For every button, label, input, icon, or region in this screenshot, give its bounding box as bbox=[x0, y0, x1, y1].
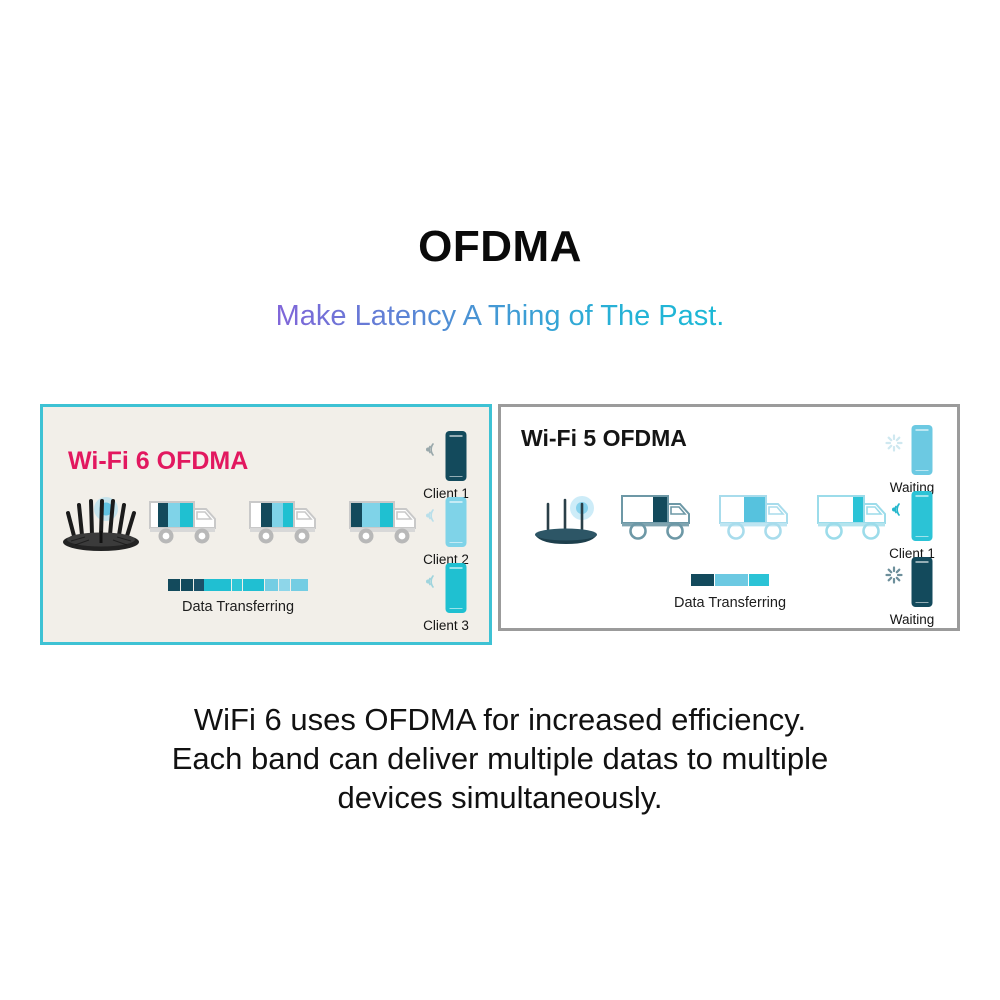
phone-icon bbox=[912, 425, 933, 475]
loading-spinner-icon bbox=[884, 565, 904, 585]
phone-icon bbox=[446, 431, 467, 481]
bar-segment bbox=[714, 574, 748, 586]
phone-icon bbox=[446, 563, 467, 613]
client-wifi5-2: Client 1 bbox=[869, 491, 955, 561]
panel-wifi5-ofdma: Wi-Fi 5 OFDMA bbox=[498, 404, 960, 631]
caption-line-1: WiFi 6 uses OFDMA for increased efficien… bbox=[60, 700, 940, 739]
bar-segment bbox=[204, 579, 231, 591]
bar-segment bbox=[691, 574, 714, 586]
wifi-signal-icon bbox=[884, 499, 904, 519]
wifi-signal-icon bbox=[418, 505, 438, 525]
truck-wifi6-1 bbox=[149, 499, 227, 554]
caption-line-2: Each band can deliver multiple datas to … bbox=[60, 739, 940, 778]
bar-segment bbox=[290, 579, 308, 591]
panel-wifi5-title: Wi-Fi 5 OFDMA bbox=[521, 425, 687, 452]
bar-segment bbox=[231, 579, 242, 591]
wifi-signal-icon bbox=[418, 439, 438, 459]
wifi6-router-icon bbox=[59, 495, 143, 562]
phone-icon bbox=[912, 491, 933, 541]
bar-segment bbox=[180, 579, 193, 591]
client-wifi6-1: Client 1 bbox=[403, 431, 489, 501]
bar-segment bbox=[264, 579, 278, 591]
phone-icon bbox=[446, 497, 467, 547]
truck-wifi5-1 bbox=[621, 493, 701, 550]
loading-spinner-icon bbox=[884, 433, 904, 453]
wifi5-router-icon bbox=[527, 491, 611, 554]
data-transfer-bar-wifi6 bbox=[168, 579, 308, 591]
wifi-signal-icon bbox=[418, 571, 438, 591]
truck-wifi6-2 bbox=[249, 499, 327, 554]
panel-wifi6-ofdma: Wi-Fi 6 OFDMA bbox=[40, 404, 492, 645]
panel-wifi6-title: Wi-Fi 6 OFDMA bbox=[68, 447, 248, 476]
client-label: Client 3 bbox=[403, 618, 489, 633]
data-transfer-label-wifi6: Data Transferring bbox=[153, 599, 323, 615]
page-title: OFDMA bbox=[0, 222, 1000, 272]
client-wifi6-2: Client 2 bbox=[403, 497, 489, 567]
bar-segment bbox=[242, 579, 264, 591]
page-subtitle: Make Latency A Thing of The Past. bbox=[0, 300, 1000, 333]
truck-wifi5-2 bbox=[719, 493, 799, 550]
bar-segment bbox=[748, 574, 769, 586]
client-wifi5-3: Waiting bbox=[869, 557, 955, 627]
bar-segment bbox=[168, 579, 180, 591]
bar-segment bbox=[278, 579, 290, 591]
bar-segment bbox=[193, 579, 204, 591]
data-transfer-bar-wifi5 bbox=[691, 574, 769, 586]
client-label: Waiting bbox=[869, 612, 955, 627]
caption: WiFi 6 uses OFDMA for increased efficien… bbox=[60, 700, 940, 817]
caption-line-3: devices simultaneously. bbox=[60, 778, 940, 817]
client-wifi5-1: Waiting bbox=[869, 425, 955, 495]
client-wifi6-3: Client 3 bbox=[403, 563, 489, 633]
phone-icon bbox=[912, 557, 933, 607]
data-transfer-label-wifi5: Data Transferring bbox=[645, 595, 815, 611]
